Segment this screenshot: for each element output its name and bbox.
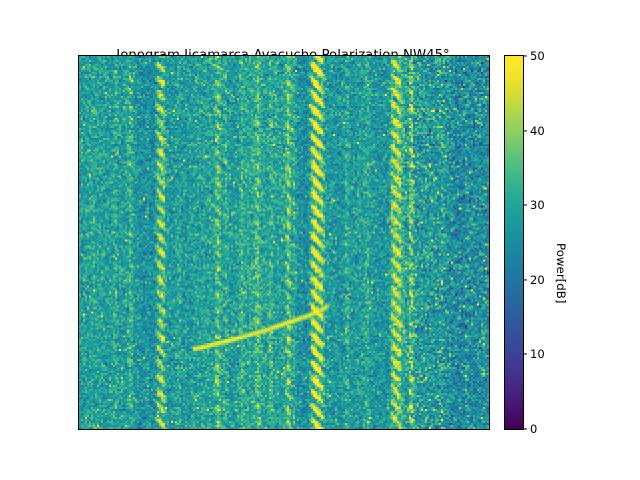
x-tick-label: 12 [388,429,403,430]
ionogram-figure: Ionogram Jicamarca-Ayacucho Polarization… [0,0,640,480]
x-tick-mark [160,429,161,430]
x-tick-mark [219,429,220,430]
x-tick-label: 8 [274,429,281,430]
x-tick-mark [395,429,396,430]
x-tick-mark [336,429,337,430]
x-tick-mark [102,429,103,430]
ionogram-heatmap[interactable] [79,56,489,429]
x-tick-label: 4 [157,429,164,430]
colorbar-tick-label: 30 [523,198,545,212]
x-tick-mark [278,429,279,430]
y-tick-label: 2500 [78,111,79,125]
colorbar-tick-label: 20 [523,273,545,287]
x-tick-mark [453,429,454,430]
x-tick-label: 2 [99,429,106,430]
colorbar-tick-label: 50 [523,49,545,63]
plot-axes[interactable]: Virtual Distance[km] Frequency[MHz] 2468… [78,55,490,430]
y-tick-label: 2000 [78,173,79,187]
colorbar-gradient [505,56,523,429]
colorbar-tick-label: 0 [523,422,537,436]
x-tick-label: 6 [216,429,223,430]
y-tick-label: 0 [78,422,79,430]
y-tick-label: 1000 [78,298,79,312]
y-tick-label: 500 [78,360,79,374]
y-tick-label: 3000 [78,55,79,63]
colorbar[interactable]: Power[dB] 01020304050 [504,55,524,430]
x-tick-label: 14 [447,429,462,430]
y-tick-label: 1500 [78,236,79,250]
colorbar-label: Power[dB] [554,243,568,303]
colorbar-tick-label: 40 [523,124,545,138]
x-tick-label: 10 [329,429,344,430]
colorbar-tick-label: 10 [523,347,545,361]
